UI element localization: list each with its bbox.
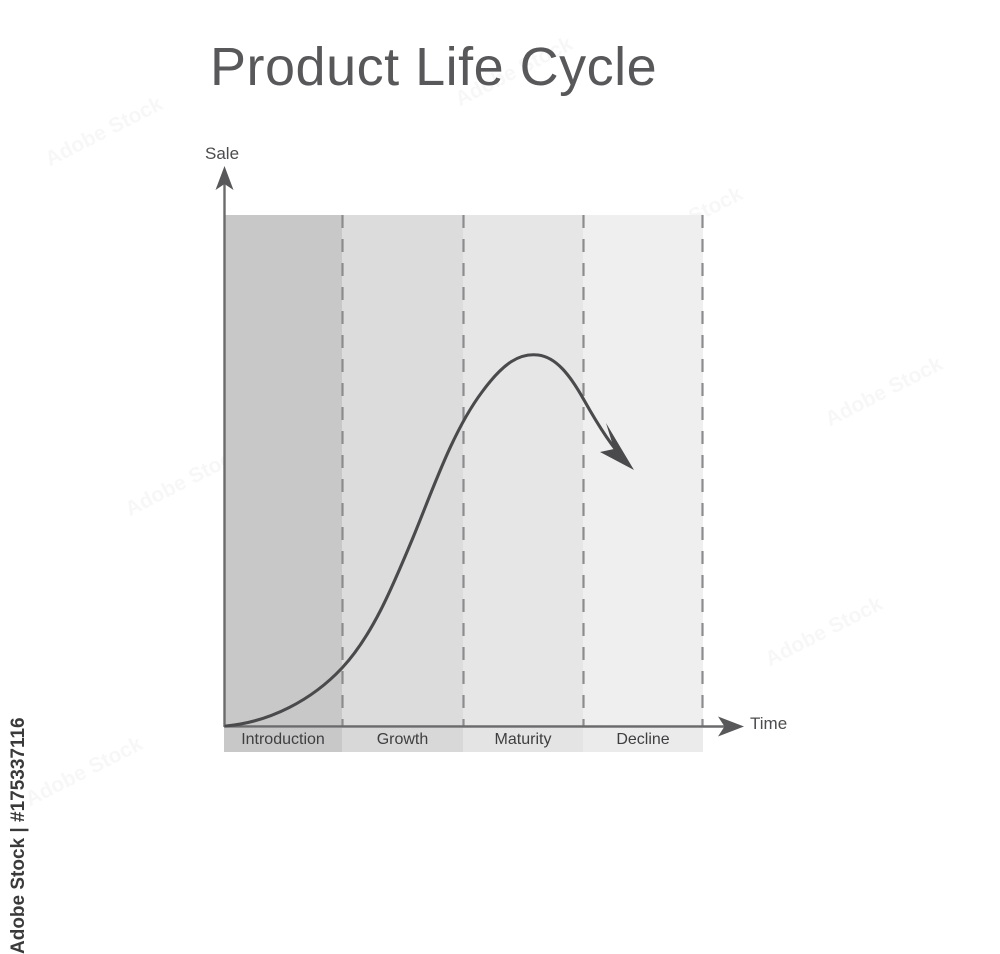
stage-label-maturity: Maturity xyxy=(463,728,583,752)
stage-label-strip: Introduction Growth Maturity Decline xyxy=(224,728,703,752)
band-growth xyxy=(342,215,463,727)
band-maturity xyxy=(463,215,583,727)
product-life-cycle-figure xyxy=(0,0,1000,833)
band-decline xyxy=(583,215,703,727)
y-axis-label: Sale xyxy=(205,144,239,164)
band-introduction xyxy=(224,215,342,727)
x-axis-label: Time xyxy=(750,714,787,734)
stage-label-decline: Decline xyxy=(583,728,703,752)
chart-canvas: Adobe Stock Adobe Stock Adobe Stock Adob… xyxy=(0,0,1000,833)
stage-label-growth: Growth xyxy=(342,728,463,752)
stage-label-introduction: Introduction xyxy=(224,728,342,752)
